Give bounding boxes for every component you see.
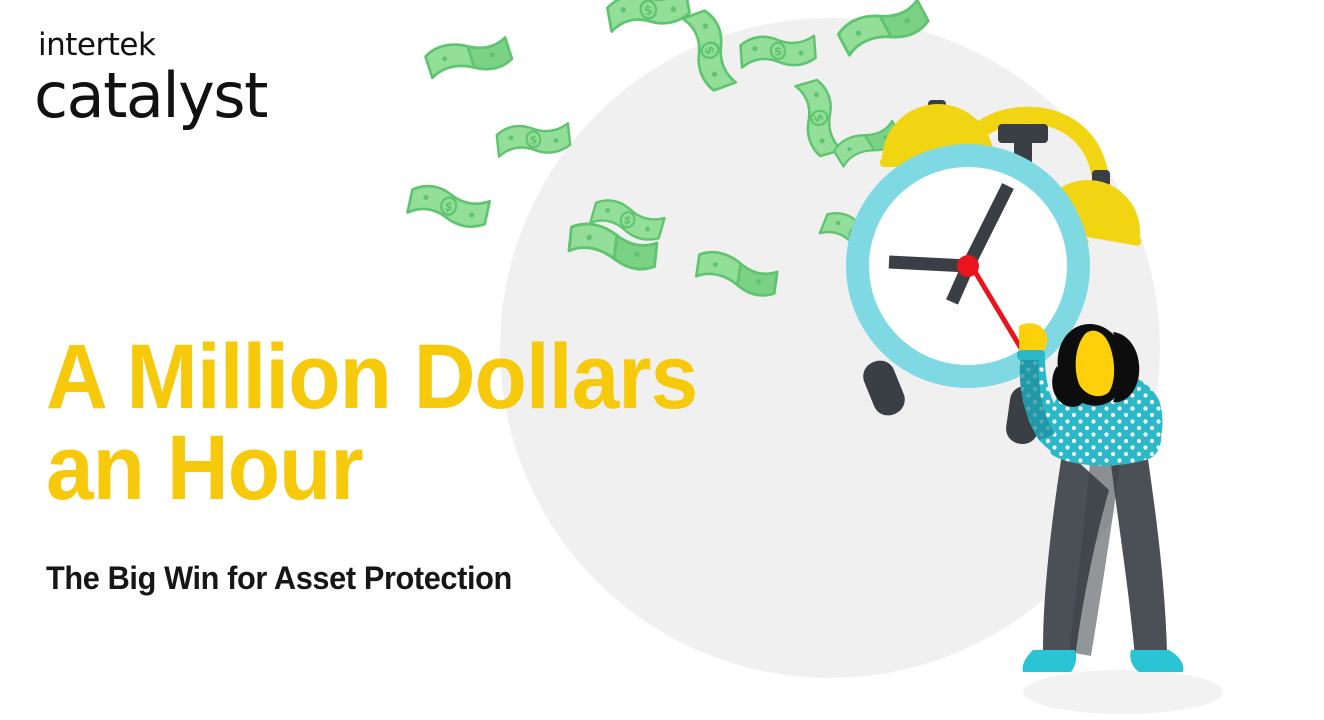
person-illustration — [1005, 320, 1235, 720]
headline-line-2: an Hour — [46, 423, 790, 514]
brand-logo[interactable]: intertek catalyst — [34, 30, 267, 127]
logo-catalyst-wordmark: catalyst — [34, 65, 267, 127]
page-title: A Million Dollars an Hour — [46, 332, 846, 514]
logo-intertek-wordmark: intertek — [38, 30, 267, 61]
legs — [1043, 448, 1167, 658]
head — [1052, 324, 1139, 407]
headline-line-1: A Million Dollars — [46, 332, 790, 423]
page-subtitle: The Big Win for Asset Protection — [46, 560, 512, 597]
ground-shadow — [1023, 670, 1223, 714]
poster-canvas: $ — [0, 0, 1324, 720]
hand — [1017, 323, 1047, 360]
shoes — [1023, 650, 1184, 672]
